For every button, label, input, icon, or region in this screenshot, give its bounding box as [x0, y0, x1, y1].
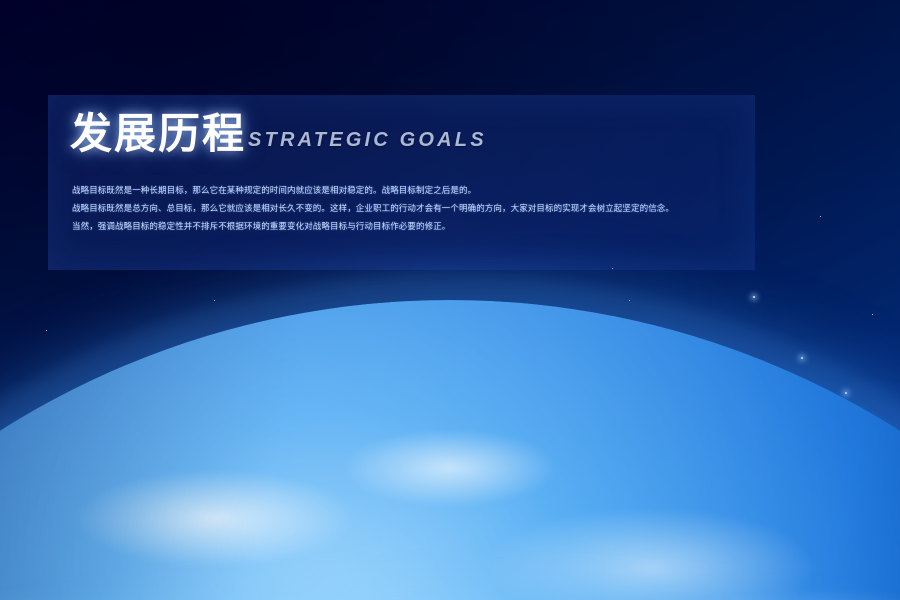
body-line: 战略目标既然是总方向、总目标，那么它就应该是相对长久不变的。这样，企业职工的行动… [72, 203, 732, 215]
title-row: 发展历程 STRATEGIC GOALS [70, 113, 487, 155]
content-panel: 发展历程 STRATEGIC GOALS 战略目标既然是一种长期目标，那么它在某… [48, 95, 755, 270]
body-line: 战略目标既然是一种长期目标，那么它在某种规定的时间内就应该是相对稳定的。战略目标… [72, 185, 732, 197]
page-title: 发展历程 [70, 113, 246, 155]
banner-stage: 发展历程 STRATEGIC GOALS 战略目标既然是一种长期目标，那么它在某… [0, 0, 900, 600]
page-subtitle: STRATEGIC GOALS [248, 129, 487, 155]
body-line: 当然，强调战略目标的稳定性并不排斥不根据环境的重要变化对战略目标与行动目标作必要… [72, 221, 732, 233]
body-paragraphs: 战略目标既然是一种长期目标，那么它在某种规定的时间内就应该是相对稳定的。战略目标… [72, 185, 732, 239]
earth-graphic [0, 300, 900, 600]
